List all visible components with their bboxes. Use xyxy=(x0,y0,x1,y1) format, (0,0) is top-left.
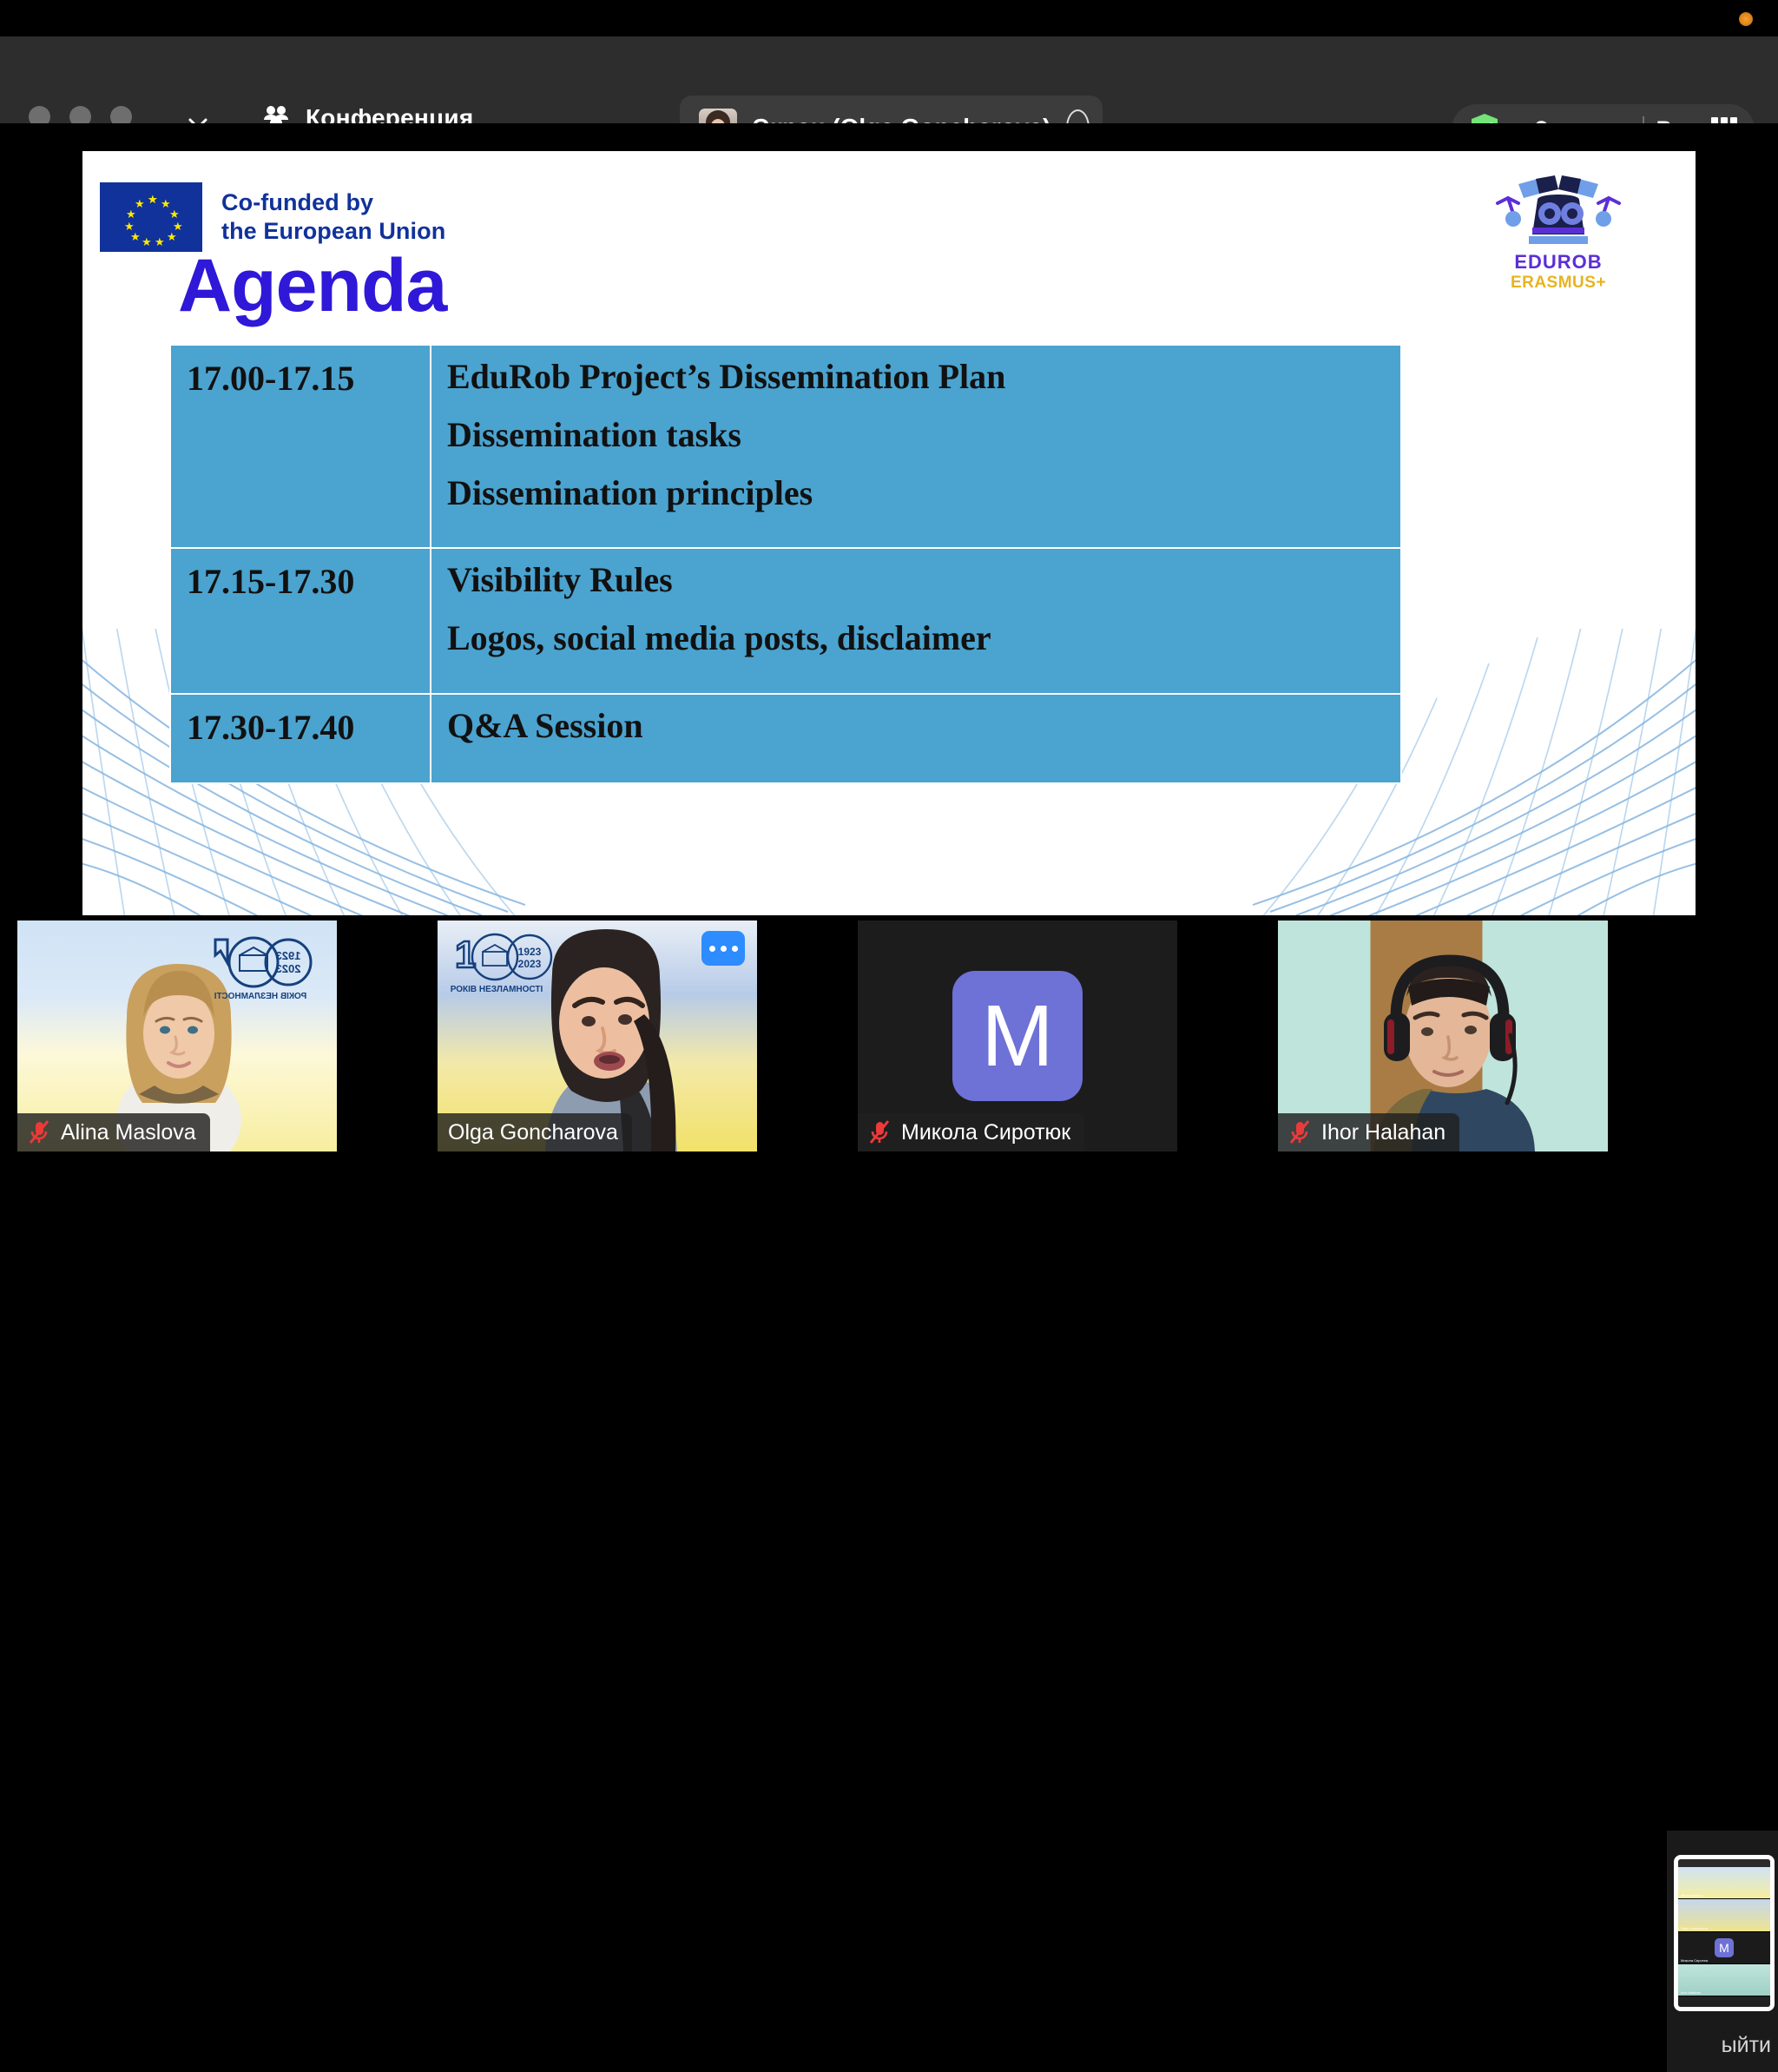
table-row: 17.30-17.40 Q&A Session xyxy=(170,694,1401,783)
more-options-icon[interactable] xyxy=(701,931,745,966)
agenda-item: Logos, social media posts, disclaimer xyxy=(447,619,1385,658)
table-row: 17.00-17.15 EduRob Project’s Disseminati… xyxy=(170,345,1401,548)
eu-funding-line-2: the European Union xyxy=(221,217,445,246)
agenda-item: Visibility Rules xyxy=(447,561,1385,600)
participant-name: Ihor Halahan xyxy=(1321,1120,1445,1145)
robot-arms-icon xyxy=(1489,170,1628,250)
erasmus-label: ERASMUS+ xyxy=(1489,274,1628,293)
participant-nameplate: Alina Maslova xyxy=(17,1113,210,1151)
zoom-title-bar: Конференция Экран (Olga Goncharova) Запи… xyxy=(0,36,1778,123)
eu-flag-icon: ★ ★ ★ ★ ★ ★ ★ ★ ★ ★ ★ ★ xyxy=(100,182,202,252)
mini-cell-label: Olga Goncharova xyxy=(1681,1926,1708,1930)
edurob-name: EDUROB xyxy=(1489,251,1628,274)
camera-strip xyxy=(0,0,1778,36)
svg-text:2023: 2023 xyxy=(276,962,301,975)
mic-muted-icon xyxy=(28,1119,50,1145)
table-row: 17.15-17.30 Visibility Rules Logos, soci… xyxy=(170,548,1401,694)
mini-cell-label: Alina Maslova xyxy=(1681,1893,1702,1897)
avatar: M xyxy=(952,971,1083,1101)
eu-funding-text: Co-funded by the European Union xyxy=(221,188,445,246)
participant-name: Alina Maslova xyxy=(61,1120,196,1145)
participant-tile-olga-goncharova[interactable]: 1 1923 2023 РОКІВ НЕЗЛАМНОСТІ xyxy=(438,921,757,1151)
university-watermark: 1923 2023 РОКІВ НЕЗЛАМНОСТІ xyxy=(208,931,318,1010)
mic-muted-icon xyxy=(1288,1119,1311,1145)
agenda-topics: Visibility Rules Logos, social media pos… xyxy=(431,548,1401,694)
presentation-slide[interactable]: ★ ★ ★ ★ ★ ★ ★ ★ ★ ★ ★ ★ Co-funded by the… xyxy=(82,151,1696,915)
participant-tile-mykola-syrotiuk[interactable]: M Микола Сиротюк xyxy=(858,921,1177,1151)
leave-meeting-label[interactable]: ыйти xyxy=(1722,2033,1771,2058)
self-view-thumbnail[interactable]: Alina Maslova Olga Goncharova M Микола С… xyxy=(1674,1855,1775,2011)
edurob-logo: EDUROB ERASMUS+ xyxy=(1489,170,1628,293)
agenda-time: 17.15-17.30 xyxy=(170,548,431,694)
agenda-time: 17.30-17.40 xyxy=(170,694,431,783)
participant-nameplate: Ihor Halahan xyxy=(1278,1113,1459,1151)
agenda-topics: Q&A Session xyxy=(431,694,1401,783)
participant-filmstrip: 1923 2023 РОКІВ НЕЗЛАМНОСТІ Alina Maslov… xyxy=(0,915,1778,1157)
participant-name: Микола Сиротюк xyxy=(901,1120,1070,1145)
slide-title: Agenda xyxy=(178,243,446,329)
shared-screen-stage: ★ ★ ★ ★ ★ ★ ★ ★ ★ ★ ★ ★ Co-funded by the… xyxy=(0,123,1778,915)
agenda-item: Dissemination tasks xyxy=(447,416,1385,455)
participant-tile-ihor-halahan[interactable]: Ihor Halahan xyxy=(1278,921,1608,1151)
mini-cell: M Микола Сиротюк xyxy=(1678,1932,1770,1964)
mini-cell: Ihor Halahan xyxy=(1678,1964,1770,1996)
svg-text:РОКІВ НЕЗЛАМНОСТІ: РОКІВ НЕЗЛАМНОСТІ xyxy=(214,992,307,1001)
mini-cell-label: Ihor Halahan xyxy=(1681,1990,1701,1995)
mic-muted-icon xyxy=(868,1119,891,1145)
agenda-topics: EduRob Project’s Dissemination Plan Diss… xyxy=(431,345,1401,548)
mini-cell: Alina Maslova xyxy=(1678,1867,1770,1899)
agenda-item: Q&A Session xyxy=(447,707,1385,746)
participant-name: Olga Goncharova xyxy=(448,1120,618,1145)
mini-cell-label: Микола Сиротюк xyxy=(1681,1958,1708,1963)
participant-nameplate: Микола Сиротюк xyxy=(858,1113,1084,1151)
participant-nameplate: Olga Goncharova xyxy=(438,1113,632,1151)
agenda-item: Dissemination principles xyxy=(447,474,1385,513)
eu-funding-line-1: Co-funded by xyxy=(221,188,445,217)
participant-tile-alina-maslova[interactable]: 1923 2023 РОКІВ НЕЗЛАМНОСТІ Alina Maslov… xyxy=(17,921,337,1151)
camera-indicator-icon xyxy=(1739,12,1753,26)
eu-funding-logo: ★ ★ ★ ★ ★ ★ ★ ★ ★ ★ ★ ★ Co-funded by the… xyxy=(100,182,445,252)
svg-text:1923: 1923 xyxy=(276,949,301,962)
agenda-time: 17.00-17.15 xyxy=(170,345,431,548)
agenda-table: 17.00-17.15 EduRob Project’s Disseminati… xyxy=(169,344,1402,784)
agenda-item: EduRob Project’s Dissemination Plan xyxy=(447,358,1385,397)
mini-cell: Olga Goncharova xyxy=(1678,1899,1770,1931)
